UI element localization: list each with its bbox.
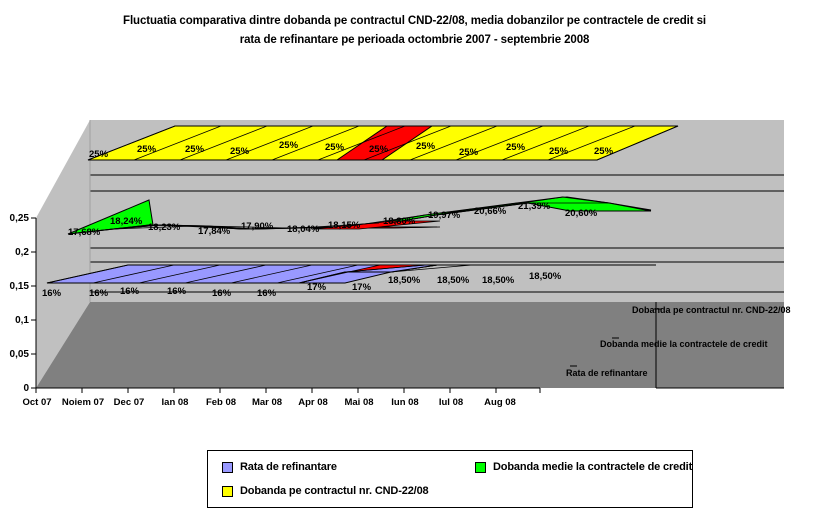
data-label: 16% bbox=[89, 288, 109, 299]
x-tick-label: Aug 08 bbox=[484, 397, 516, 408]
data-label: 16% bbox=[167, 286, 187, 297]
data-label: 21,39% bbox=[518, 201, 551, 212]
legend-item-rata-refinantare[interactable]: Rata de refinantare bbox=[222, 461, 337, 473]
legend-label: Rata de refinantare bbox=[240, 461, 337, 473]
data-label: 25% bbox=[89, 149, 109, 160]
data-label: 25% bbox=[594, 146, 614, 157]
data-label: 16% bbox=[257, 288, 277, 299]
data-label: 18,04% bbox=[287, 224, 320, 235]
series-axis-label: Dobanda pe contractul nr. CND-22/08 bbox=[632, 305, 791, 315]
data-label: 25% bbox=[137, 144, 157, 155]
x-axis: Oct 07 Noiem 07 Dec 07 Ian 08 Feb 08 Mar… bbox=[22, 388, 540, 408]
series-axis-label: Rata de refinantare bbox=[566, 368, 648, 378]
data-label: 25% bbox=[325, 142, 345, 153]
x-tick-label: Feb 08 bbox=[206, 397, 236, 408]
x-tick-label: Iul 08 bbox=[439, 397, 463, 408]
y-tick-label: 0,15 bbox=[10, 281, 30, 292]
data-label: 16% bbox=[120, 286, 140, 297]
chart-legend: Rata de refinantare Dobanda medie la con… bbox=[207, 450, 693, 508]
data-label: 25% bbox=[549, 146, 569, 157]
data-label: 18,50% bbox=[529, 271, 562, 282]
data-label: 18,23% bbox=[148, 222, 181, 233]
data-label: 17% bbox=[307, 282, 327, 293]
y-tick-label: 0,2 bbox=[15, 247, 29, 258]
legend-swatch-rata-refinantare bbox=[222, 462, 233, 473]
data-label: 18,15% bbox=[328, 220, 361, 231]
data-label: 17% bbox=[352, 282, 372, 293]
legend-label: Dobanda pe contractul nr. CND-22/08 bbox=[240, 485, 429, 497]
data-label: 16% bbox=[212, 288, 232, 299]
data-label: 25% bbox=[459, 147, 479, 158]
data-label: 18,80% bbox=[383, 216, 416, 227]
data-label: 17,84% bbox=[198, 226, 231, 237]
x-tick-label: Mar 08 bbox=[252, 397, 282, 408]
chart-container: Fluctuatia comparativa dintre dobanda pe… bbox=[0, 0, 829, 516]
data-label: 25% bbox=[416, 141, 436, 152]
x-tick-label: Noiem 07 bbox=[62, 397, 104, 408]
legend-label: Dobanda medie la contractele de credit bbox=[493, 461, 692, 473]
x-tick-label: Mai 08 bbox=[344, 397, 373, 408]
series-band-cnd2208: 25% 25% 25% 25% 25% 25% 25% 25% 25% 25% … bbox=[88, 126, 678, 160]
data-label: 18,50% bbox=[482, 275, 515, 286]
data-label: 17,68% bbox=[68, 227, 101, 238]
x-tick-label: Iun 08 bbox=[391, 397, 418, 408]
data-label: 25% bbox=[230, 146, 250, 157]
x-tick-label: Dec 07 bbox=[114, 397, 145, 408]
legend-item-dobanda-medie[interactable]: Dobanda medie la contractele de credit bbox=[475, 461, 692, 473]
data-label: 18,50% bbox=[388, 275, 421, 286]
y-tick-label: 0,1 bbox=[15, 315, 29, 326]
x-tick-label: Apr 08 bbox=[298, 397, 328, 408]
data-label: 17,90% bbox=[241, 221, 274, 232]
y-tick-label: 0,05 bbox=[10, 349, 30, 360]
data-label: 20,60% bbox=[565, 208, 598, 219]
legend-item-cnd2208[interactable]: Dobanda pe contractul nr. CND-22/08 bbox=[222, 485, 429, 497]
x-tick-label: Oct 07 bbox=[22, 397, 51, 408]
data-label: 25% bbox=[185, 144, 205, 155]
data-label: 16% bbox=[42, 288, 62, 299]
data-label: 25% bbox=[279, 140, 299, 151]
y-tick-label: 0 bbox=[23, 383, 29, 394]
y-axis: 0 0,05 0,1 0,15 0,2 0,25 bbox=[10, 213, 36, 394]
data-label: 25% bbox=[506, 142, 526, 153]
data-label: 18,50% bbox=[437, 275, 470, 286]
legend-swatch-cnd2208 bbox=[222, 486, 233, 497]
plot-area: 25% 25% 25% 25% 25% 25% 25% 25% 25% 25% … bbox=[0, 0, 829, 516]
data-label: 20,66% bbox=[474, 206, 507, 217]
legend-swatch-dobanda-medie bbox=[475, 462, 486, 473]
y-tick-label: 0,25 bbox=[10, 213, 30, 224]
data-label: 19,97% bbox=[428, 210, 461, 221]
x-tick-label: Ian 08 bbox=[162, 397, 189, 408]
series-axis-label: Dobanda medie la contractele de credit bbox=[600, 339, 768, 349]
data-label: 25% bbox=[369, 144, 389, 155]
data-label: 18,24% bbox=[110, 216, 143, 227]
